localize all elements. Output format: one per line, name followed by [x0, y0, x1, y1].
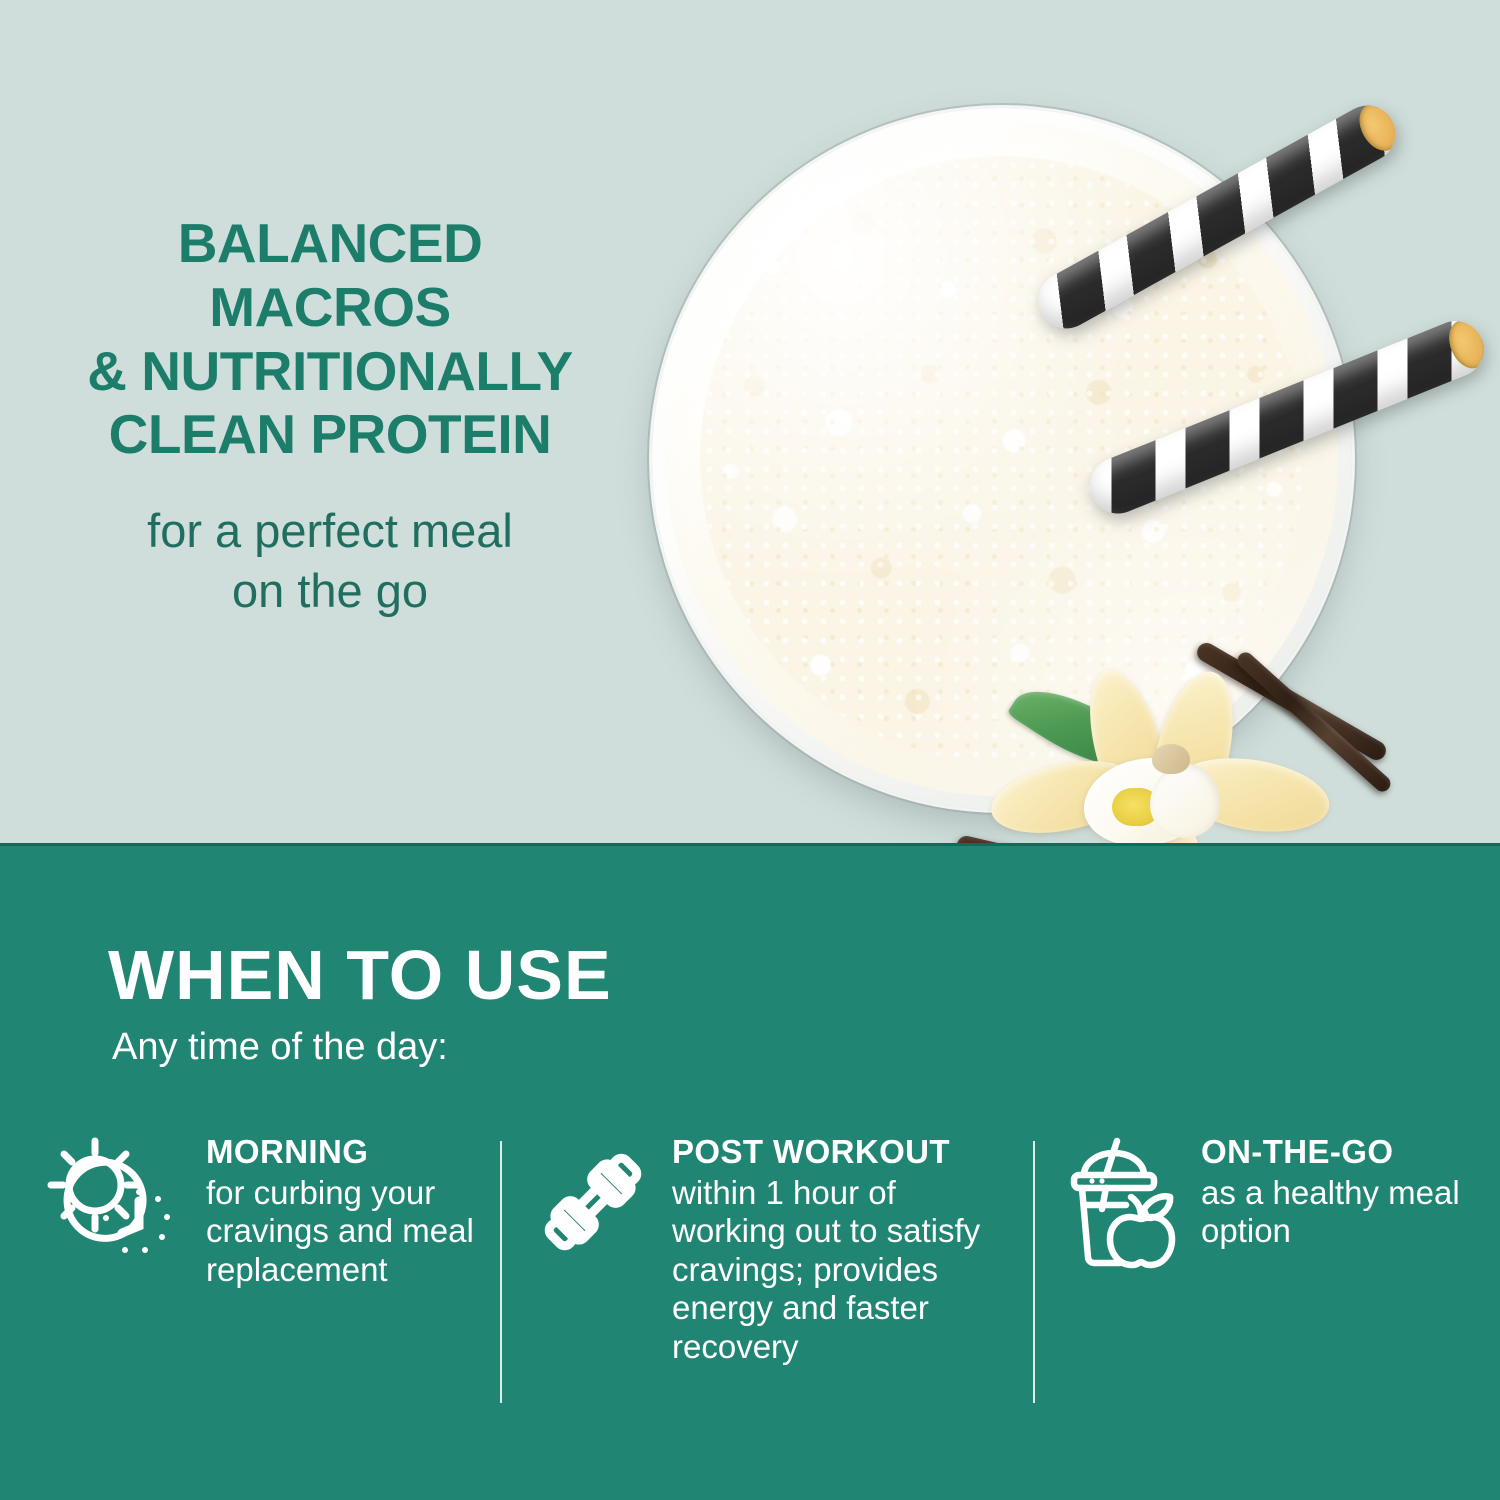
column-divider [1033, 1141, 1035, 1403]
headline-line-3: & NUTRITIONALLY [0, 340, 660, 404]
dumbbell-icon [528, 1137, 658, 1272]
headline-block: BALANCED MACROS & NUTRITIONALLY CLEAN PR… [0, 212, 660, 622]
usage-item-morning: MORNING for curbing your cravings and me… [42, 1133, 482, 1289]
panel-seam-divider [0, 843, 1500, 846]
usage-title: MORNING [206, 1135, 482, 1170]
headline-line-1: BALANCED [0, 212, 660, 276]
usage-text-morning: MORNING for curbing your cravings and me… [206, 1133, 482, 1289]
usage-description: as a healthy meal option [1201, 1174, 1462, 1251]
page-subheadline: for a perfect meal on the go [0, 501, 660, 621]
straw-tip [1352, 97, 1406, 157]
vanilla-flower-garnish [952, 672, 1372, 843]
usage-title: ON-THE-GO [1201, 1135, 1462, 1170]
any-time-subtitle: Any time of the day: [112, 1028, 448, 1066]
usage-item-on-the-go: ON-THE-GO as a healthy meal option [1062, 1133, 1462, 1277]
top-panel: BALANCED MACROS & NUTRITIONALLY CLEAN PR… [0, 0, 1500, 843]
usage-text-post-workout: POST WORKOUT within 1 hour of working ou… [672, 1133, 998, 1367]
usage-item-post-workout: POST WORKOUT within 1 hour of working ou… [528, 1133, 998, 1367]
when-to-use-title: WHEN TO USE [108, 940, 612, 1010]
smoothie-cup-apple-icon [1062, 1137, 1187, 1277]
headline-line-2: MACROS [0, 276, 660, 340]
usage-title: POST WORKOUT [672, 1135, 998, 1170]
usage-text-on-the-go: ON-THE-GO as a healthy meal option [1201, 1133, 1462, 1251]
column-divider [500, 1141, 502, 1403]
page-headline: BALANCED MACROS & NUTRITIONALLY CLEAN PR… [0, 212, 660, 467]
usage-description: for curbing your cravings and meal repla… [206, 1174, 482, 1290]
flower-lip [1150, 764, 1220, 838]
sun-clock-icon [42, 1137, 192, 1272]
flower-column [1152, 744, 1190, 774]
usage-columns: MORNING for curbing your cravings and me… [0, 1133, 1500, 1463]
subheadline-line-2: on the go [0, 561, 660, 621]
subheadline-line-1: for a perfect meal [0, 501, 660, 561]
usage-description: within 1 hour of working out to satisfy … [672, 1174, 998, 1367]
when-to-use-panel: WHEN TO USE Any time of the day: [0, 843, 1500, 1500]
straw-tip [1442, 315, 1492, 374]
headline-line-4: CLEAN PROTEIN [0, 403, 660, 467]
